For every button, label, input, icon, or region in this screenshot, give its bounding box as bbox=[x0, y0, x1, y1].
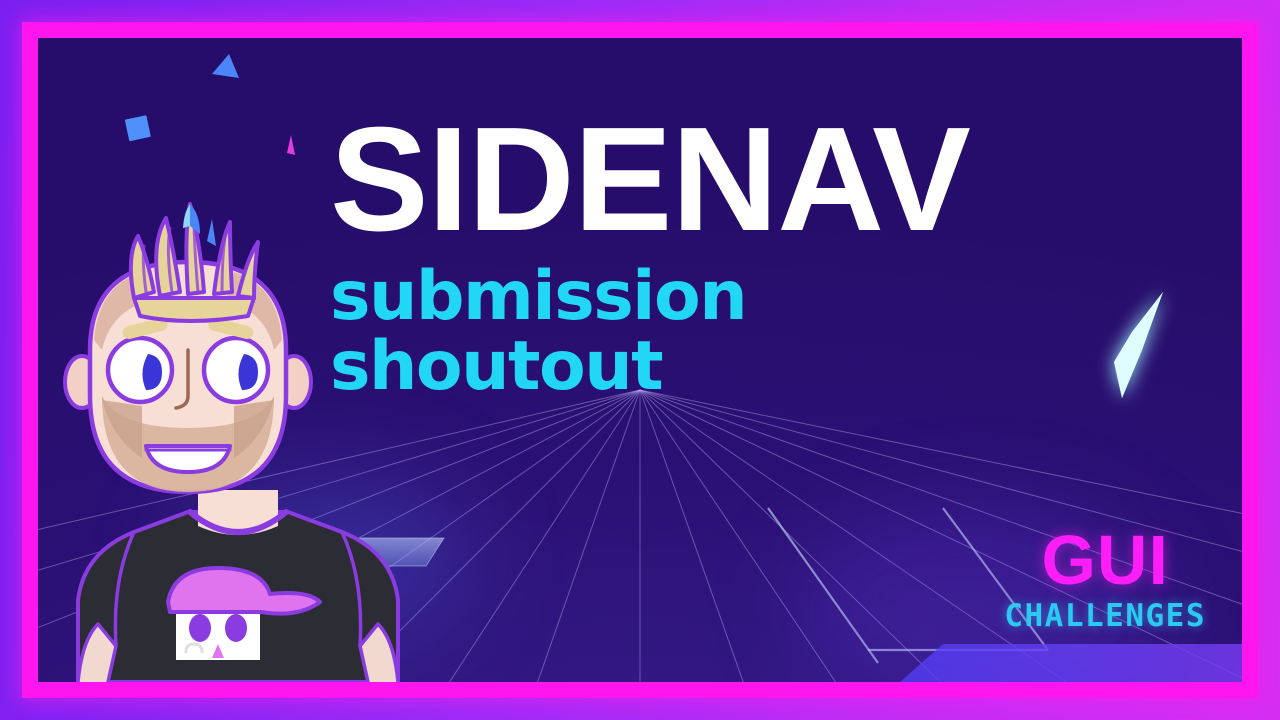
brand-lockup: GUI CHALLENGES bbox=[1004, 525, 1206, 632]
title-block: SIDENAV submission shoutout bbox=[330, 112, 1130, 401]
brand-challenges-text: CHALLENGES bbox=[1004, 601, 1206, 632]
page-title: SIDENAV bbox=[330, 112, 1130, 248]
triangle-blue-icon bbox=[208, 52, 244, 88]
thumbnail-stage: SIDENAV submission shoutout GUI CHALLENG… bbox=[0, 0, 1280, 720]
subtitle: submission shoutout bbox=[330, 262, 1130, 401]
brand-gui-text: GUI bbox=[1004, 525, 1206, 595]
subtitle-line-2: shoutout bbox=[330, 332, 1130, 401]
sliver-magenta-icon bbox=[280, 133, 302, 163]
subtitle-line-1: submission bbox=[330, 262, 1130, 331]
square-blue-icon bbox=[122, 112, 156, 146]
